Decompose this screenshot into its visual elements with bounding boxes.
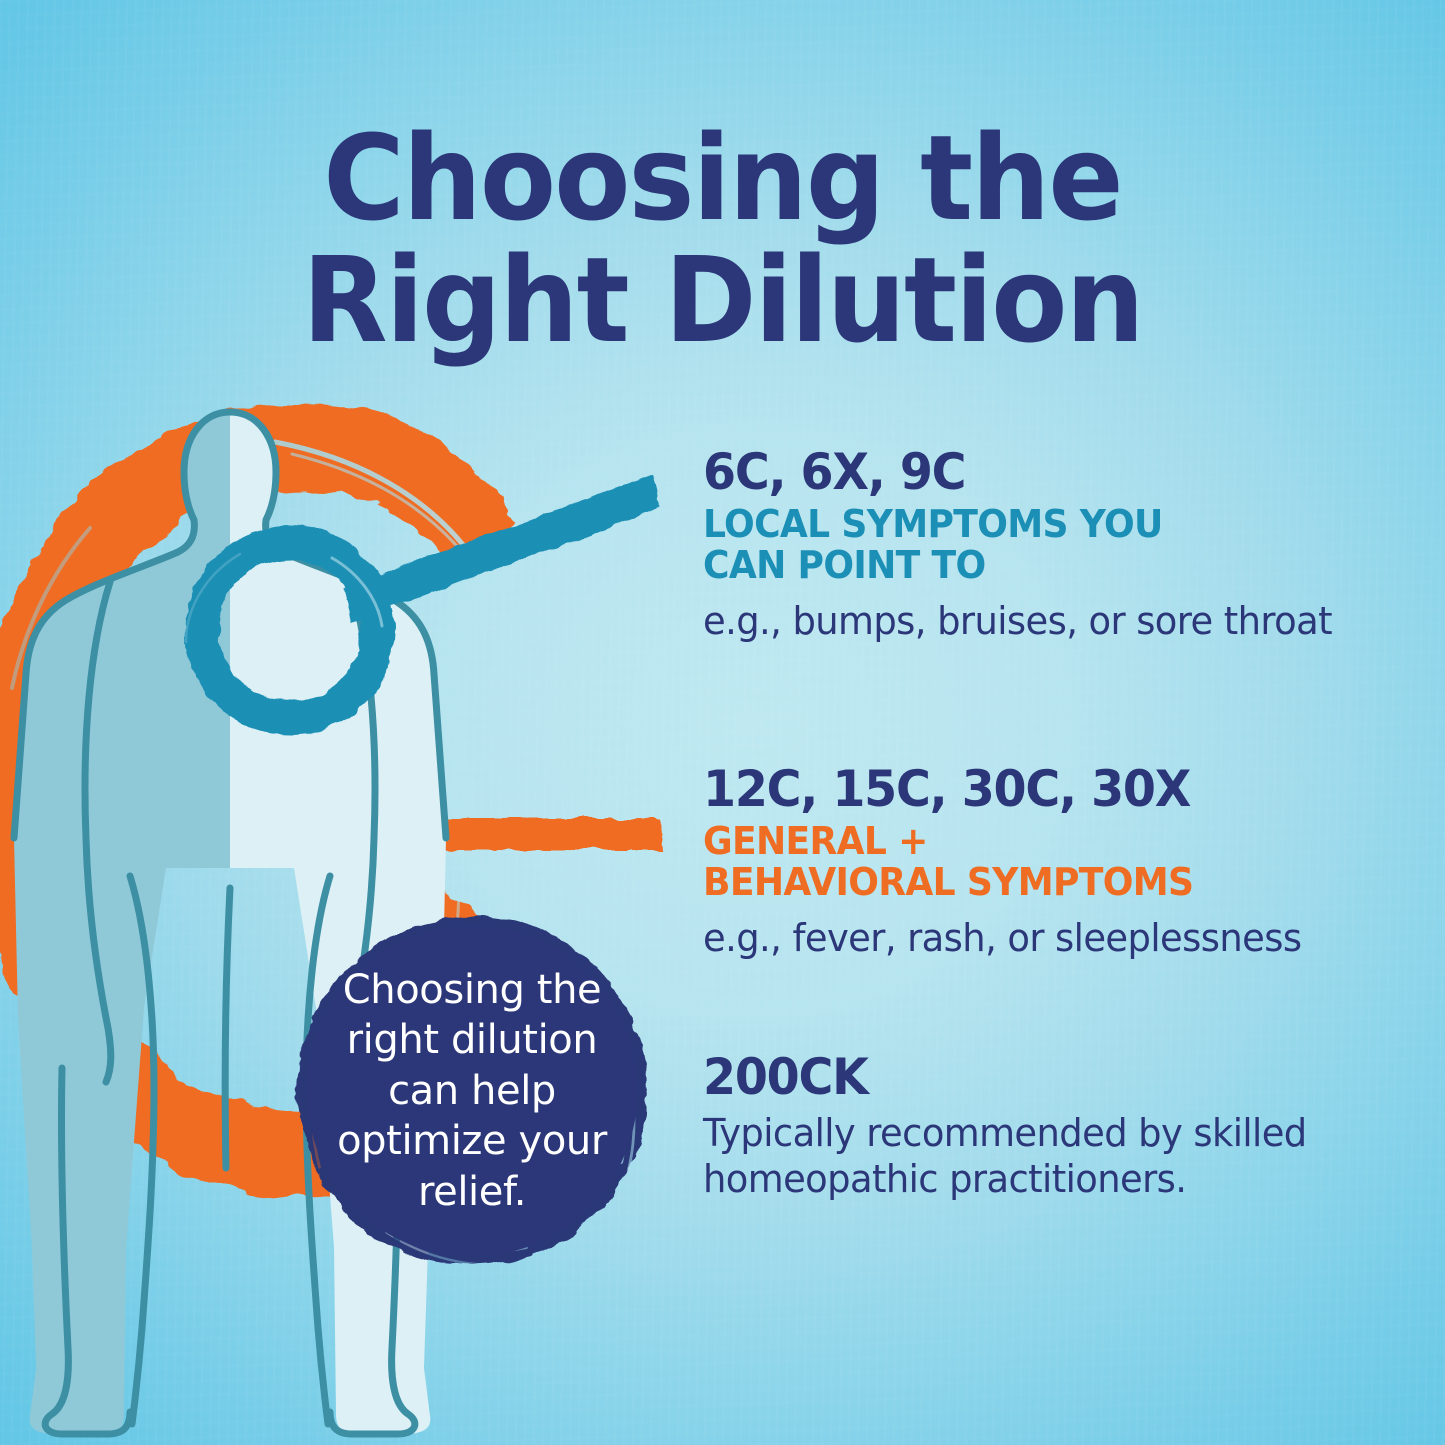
highlight-badge-text: Choosing the right dilution can help opt…	[286, 965, 658, 1217]
infographic-poster: Choosing the Right Dilution	[0, 0, 1445, 1445]
orange-brush-pointer	[416, 818, 662, 850]
dilution-entry-general: 12C, 15C, 30C, 30X GENERAL + BEHAVIORAL …	[703, 764, 1403, 961]
symptom-type-1-line-2: CAN POINT TO	[703, 545, 1368, 586]
symptom-example-3: Typically recommended by skilled homeopa…	[703, 1111, 1382, 1202]
potency-label-1: 6C, 6X, 9C	[703, 447, 1368, 498]
page-title: Choosing the Right Dilution	[43, 118, 1401, 361]
symptom-type-1-line-1: LOCAL SYMPTOMS YOU	[703, 504, 1368, 545]
symptom-example-1: e.g., bumps, bruises, or sore throat	[703, 599, 1382, 645]
symptom-type-1: LOCAL SYMPTOMS YOU CAN POINT TO	[703, 504, 1368, 587]
symptom-example-3-line-1: Typically recommended by skilled	[703, 1111, 1382, 1157]
symptom-type-2-line-2: BEHAVIORAL SYMPTOMS	[703, 862, 1368, 903]
symptom-type-2-line-1: GENERAL +	[703, 821, 1368, 862]
symptom-example-2: e.g., fever, rash, or sleeplessness	[703, 916, 1382, 962]
potency-label-3: 200CK	[703, 1052, 1368, 1103]
potency-label-2: 12C, 15C, 30C, 30X	[703, 764, 1368, 815]
symptom-type-2: GENERAL + BEHAVIORAL SYMPTOMS	[703, 821, 1368, 904]
highlight-badge: Choosing the right dilution can help opt…	[286, 905, 658, 1277]
symptom-example-3-line-2: homeopathic practitioners.	[703, 1157, 1382, 1203]
page-title-line-1: Choosing the	[43, 118, 1401, 240]
dilution-entry-local: 6C, 6X, 9C LOCAL SYMPTOMS YOU CAN POINT …	[703, 447, 1403, 644]
dilution-entry-practitioner: 200CK Typically recommended by skilled h…	[703, 1052, 1403, 1202]
page-title-line-2: Right Dilution	[43, 240, 1401, 362]
